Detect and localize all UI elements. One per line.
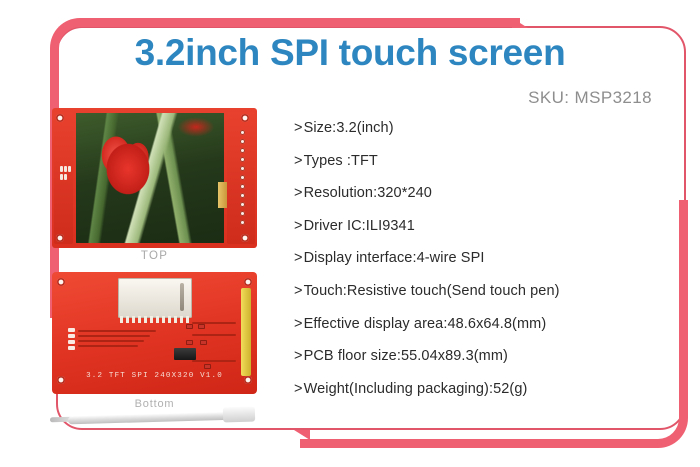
spec-bullet: >	[294, 316, 303, 332]
solder-pad	[60, 174, 63, 180]
spec-bullet: >	[294, 218, 303, 234]
spec-text: Resolution:320*240	[304, 185, 432, 201]
smd-component	[186, 340, 193, 345]
product-photo-bottom: 3.2 TFT SPI 240X320 V1.0	[52, 272, 257, 394]
pin-header-hole	[240, 220, 245, 225]
spec-text: Size:3.2(inch)	[304, 120, 394, 136]
spec-text: Touch:Resistive touch(Send touch pen)	[304, 283, 560, 299]
spec-text: Display interface:4-wire SPI	[304, 250, 485, 266]
solder-pad	[64, 166, 67, 172]
spec-text: Driver IC:ILI9341	[304, 218, 415, 234]
pcb-trace	[78, 335, 150, 337]
pin-header-hole	[240, 157, 245, 162]
pin-header-hole	[240, 148, 245, 153]
pin-header-hole	[240, 175, 245, 180]
spec-bullet: >	[294, 185, 303, 201]
spec-bullet: >	[294, 348, 303, 364]
pen-cap	[223, 407, 255, 423]
silkscreen-pad	[68, 346, 75, 350]
microsd-solder-pins	[120, 316, 190, 323]
smd-component	[204, 364, 211, 369]
product-photo-top	[52, 108, 257, 248]
pcb-trace	[192, 360, 236, 362]
pcb-back-board: 3.2 TFT SPI 240X320 V1.0	[52, 272, 257, 394]
microsd-slot	[180, 283, 184, 311]
pin-header-hole	[240, 202, 245, 207]
pin-header-hole	[240, 184, 245, 189]
lcd-screen	[76, 113, 224, 243]
pin-header-hole	[240, 166, 245, 171]
spec-item: >Touch:Resistive touch(Send touch pen)	[294, 283, 654, 316]
pin-header-hole	[240, 130, 245, 135]
pcb-trace	[192, 334, 236, 336]
pin-header-hole	[240, 211, 245, 216]
spec-text: Weight(Including packaging):52(g)	[304, 381, 528, 397]
silkscreen-pad	[68, 340, 75, 344]
tft-module-board	[52, 108, 257, 248]
mounting-hole	[56, 234, 64, 242]
pcb-trace	[78, 340, 144, 342]
microsd-socket	[118, 278, 192, 318]
photo-caption-top: TOP	[52, 250, 257, 262]
smd-component	[186, 324, 193, 329]
spec-item: >Resolution:320*240	[294, 185, 654, 218]
page-title: 3.2inch SPI touch screen	[0, 32, 700, 74]
spec-bullet: >	[294, 283, 303, 299]
product-info-card: 3.2inch SPI touch screen SKU: MSP3218	[0, 0, 700, 467]
smd-component	[198, 324, 205, 329]
mounting-hole	[244, 278, 252, 286]
touch-pen-photo	[48, 404, 263, 430]
spec-text: Types :TFT	[304, 153, 378, 169]
screen-image-tulip	[76, 113, 224, 243]
spec-text: PCB floor size:55.04x89.3(mm)	[304, 348, 508, 364]
pen-body	[68, 412, 236, 425]
spec-bullet: >	[294, 250, 303, 266]
pin-header-strip	[241, 288, 251, 376]
smd-component	[200, 340, 207, 345]
pcb-trace	[78, 345, 138, 347]
mounting-hole	[56, 114, 64, 122]
mounting-hole	[241, 234, 249, 242]
solder-pad	[60, 166, 63, 172]
ic-chip	[174, 348, 196, 360]
spec-bullet: >	[294, 120, 303, 136]
pin-header-hole	[240, 139, 245, 144]
solder-pad	[68, 166, 71, 172]
spec-bullet: >	[294, 153, 303, 169]
spec-item: >Types :TFT	[294, 153, 654, 186]
solder-pad	[64, 174, 67, 180]
spec-text: Effective display area:48.6x64.8(mm)	[304, 316, 547, 332]
spec-bullet: >	[294, 381, 303, 397]
mounting-hole	[57, 278, 65, 286]
spec-item: >Effective display area:48.6x64.8(mm)	[294, 316, 654, 349]
specification-list: >Size:3.2(inch)>Types :TFT>Resolution:32…	[294, 120, 654, 413]
mounting-hole	[241, 114, 249, 122]
silkscreen-pad	[68, 328, 75, 332]
silkscreen-pad	[68, 334, 75, 338]
spec-item: >Display interface:4-wire SPI	[294, 250, 654, 283]
pcb-trace	[78, 330, 156, 332]
spec-item: >Size:3.2(inch)	[294, 120, 654, 153]
sku-label: SKU: MSP3218	[528, 88, 652, 108]
pcb-silkscreen-text: 3.2 TFT SPI 240X320 V1.0	[52, 372, 257, 380]
spec-item: >PCB floor size:55.04x89.3(mm)	[294, 348, 654, 381]
spec-item: >Driver IC:ILI9341	[294, 218, 654, 251]
spec-item: >Weight(Including packaging):52(g)	[294, 381, 654, 414]
flex-cable-connector	[218, 182, 227, 208]
pin-header-hole	[240, 193, 245, 198]
